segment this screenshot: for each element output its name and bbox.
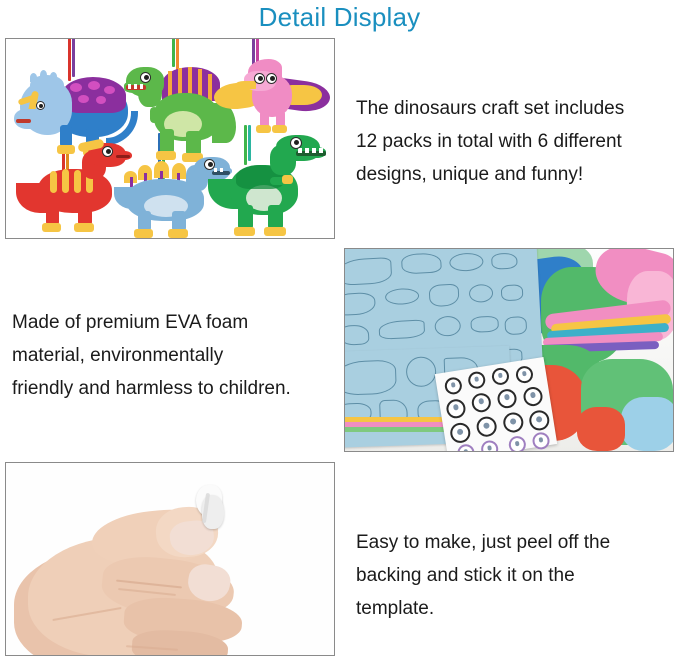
photo-peel-backing	[6, 463, 334, 655]
foam-piece	[577, 407, 625, 451]
dino-triceratops	[14, 67, 134, 155]
page-title: Detail Display	[0, 2, 679, 33]
blurb-easy: Easy to make, just peel off the backing …	[356, 526, 668, 625]
image-panel-peel-backing	[5, 462, 335, 656]
foam-piece	[621, 397, 673, 451]
photo-foam-sheets	[345, 249, 673, 451]
photo-dinosaur-ornaments	[6, 39, 334, 238]
dino-pterodactyl	[214, 57, 332, 141]
dino-tyrannosaurus	[208, 135, 330, 238]
image-panel-foam-sheets	[344, 248, 674, 452]
blurb-contents: The dinosaurs craft set includes 12 pack…	[356, 92, 668, 191]
image-panel-dinosaur-ornaments	[5, 38, 335, 239]
googly-eye-sticker-sheet	[435, 357, 557, 451]
blurb-material: Made of premium EVA foam material, envir…	[12, 306, 330, 405]
detail-display-page: Detail Display	[0, 0, 679, 663]
